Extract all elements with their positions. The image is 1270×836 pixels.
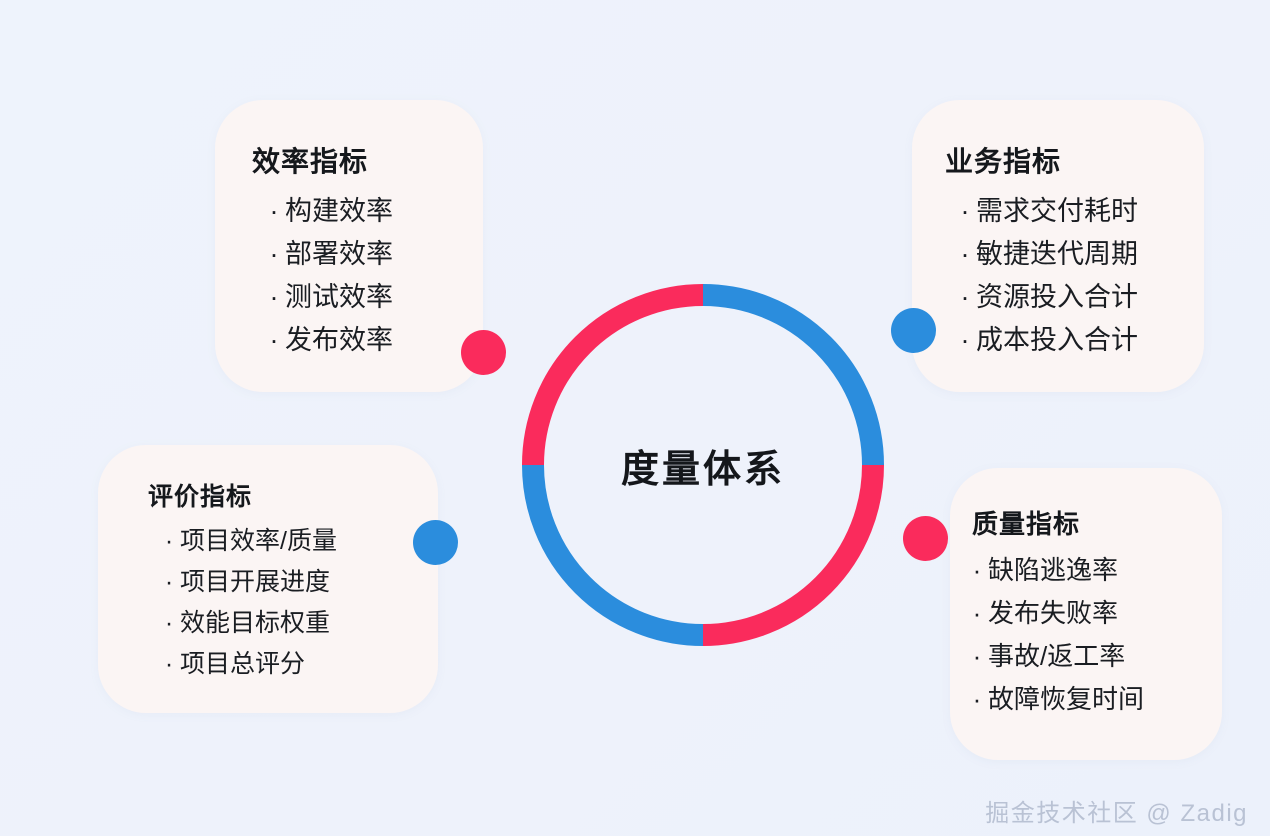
list-item: · 成本投入合计 — [954, 319, 1204, 362]
list-item: · 部署效率 — [263, 233, 483, 276]
list-item-label: 发布效率 — [285, 319, 393, 362]
bullet-icon: · — [263, 190, 285, 233]
card-quality-list: · 缺陷逃逸率 · 发布失败率 · 事故/返工率 · 故障恢复时间 — [966, 549, 1222, 721]
list-item: · 构建效率 — [263, 190, 483, 233]
bullet-icon: · — [954, 319, 976, 362]
watermark: 掘金技术社区 @ Zadig — [985, 793, 1248, 828]
bullet-icon: · — [158, 603, 180, 644]
central-ring: 度量体系 — [513, 275, 893, 655]
list-item: · 效能目标权重 — [158, 603, 438, 644]
connector-dot-quality — [903, 516, 948, 561]
card-quality-title: 质量指标 — [972, 504, 1222, 541]
bullet-icon: · — [954, 276, 976, 319]
diagram-canvas: 效率指标 · 构建效率 · 部署效率 · 测试效率 · 发布效率 业务指标 — [0, 0, 1270, 836]
list-item-label: 构建效率 — [285, 190, 393, 233]
bullet-icon: · — [158, 521, 180, 562]
bullet-icon: · — [966, 678, 988, 721]
center-label: 度量体系 — [513, 275, 893, 655]
list-item-label: 测试效率 — [285, 276, 393, 319]
bullet-icon: · — [263, 276, 285, 319]
card-efficiency-list: · 构建效率 · 部署效率 · 测试效率 · 发布效率 — [263, 190, 483, 362]
connector-dot-business — [891, 308, 936, 353]
card-quality[interactable]: 质量指标 · 缺陷逃逸率 · 发布失败率 · 事故/返工率 · 故障恢复时间 — [950, 468, 1222, 760]
list-item: · 敏捷迭代周期 — [954, 233, 1204, 276]
list-item: · 项目总评分 — [158, 644, 438, 685]
bullet-icon: · — [158, 644, 180, 685]
list-item: · 测试效率 — [263, 276, 483, 319]
bullet-icon: · — [966, 635, 988, 678]
list-item: · 项目开展进度 — [158, 562, 438, 603]
card-evaluation-list: · 项目效率/质量 · 项目开展进度 · 效能目标权重 · 项目总评分 — [158, 521, 438, 685]
list-item: · 需求交付耗时 — [954, 190, 1204, 233]
list-item-label: 敏捷迭代周期 — [976, 233, 1138, 276]
card-evaluation-title: 评价指标 — [148, 477, 438, 513]
bullet-icon: · — [263, 319, 285, 362]
list-item-label: 项目开展进度 — [180, 562, 330, 603]
connector-dot-efficiency — [461, 330, 506, 375]
list-item-label: 成本投入合计 — [976, 319, 1138, 362]
list-item-label: 需求交付耗时 — [976, 190, 1138, 233]
bullet-icon: · — [966, 592, 988, 635]
bullet-icon: · — [954, 190, 976, 233]
list-item: · 项目效率/质量 — [158, 521, 438, 562]
list-item: · 发布效率 — [263, 319, 483, 362]
bullet-icon: · — [966, 549, 988, 592]
list-item-label: 缺陷逃逸率 — [988, 549, 1118, 592]
list-item-label: 故障恢复时间 — [988, 678, 1144, 721]
bullet-icon: · — [954, 233, 976, 276]
connector-dot-evaluation — [413, 520, 458, 565]
card-evaluation[interactable]: 评价指标 · 项目效率/质量 · 项目开展进度 · 效能目标权重 · 项目总评分 — [98, 445, 438, 713]
list-item-label: 项目总评分 — [180, 644, 305, 685]
list-item: · 缺陷逃逸率 — [966, 549, 1222, 592]
card-efficiency[interactable]: 效率指标 · 构建效率 · 部署效率 · 测试效率 · 发布效率 — [215, 100, 483, 392]
list-item-label: 项目效率/质量 — [180, 521, 337, 562]
list-item: · 故障恢复时间 — [966, 678, 1222, 721]
list-item-label: 部署效率 — [285, 233, 393, 276]
card-business-list: · 需求交付耗时 · 敏捷迭代周期 · 资源投入合计 · 成本投入合计 — [954, 190, 1204, 362]
list-item-label: 事故/返工率 — [988, 635, 1125, 678]
card-business[interactable]: 业务指标 · 需求交付耗时 · 敏捷迭代周期 · 资源投入合计 · 成本投入合计 — [912, 100, 1204, 392]
card-efficiency-title: 效率指标 — [252, 140, 483, 180]
list-item: · 资源投入合计 — [954, 276, 1204, 319]
list-item: · 事故/返工率 — [966, 635, 1222, 678]
bullet-icon: · — [158, 562, 180, 603]
list-item-label: 效能目标权重 — [180, 603, 330, 644]
list-item-label: 资源投入合计 — [976, 276, 1138, 319]
bullet-icon: · — [263, 233, 285, 276]
list-item: · 发布失败率 — [966, 592, 1222, 635]
card-business-title: 业务指标 — [945, 140, 1204, 180]
list-item-label: 发布失败率 — [988, 592, 1118, 635]
